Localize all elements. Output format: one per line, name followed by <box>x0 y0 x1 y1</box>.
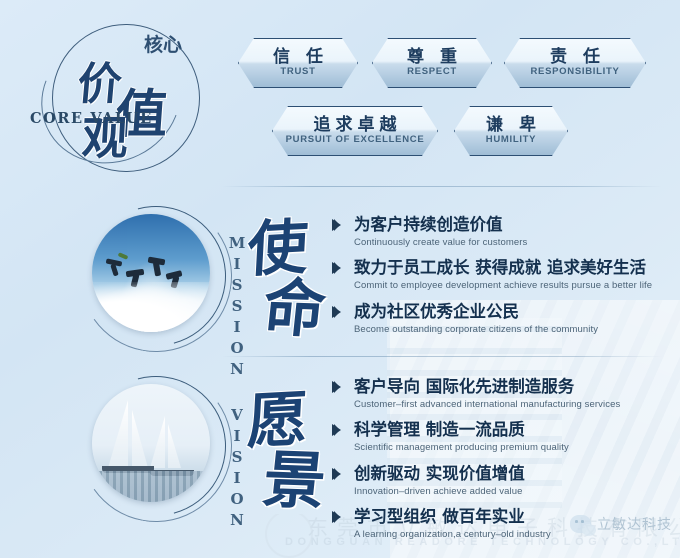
mission-point: 致力于员工成长 获得成就 追求美好生活 Commit to employee d… <box>332 259 678 291</box>
bullet-arrow-icon <box>332 306 341 318</box>
vision-point: 学习型组织 做百年实业 A learning organization,a ce… <box>332 508 678 540</box>
infographic-canvas: 东莞市立敏达电子科技有限公司 DONGGUAN READORE TECHNOLO… <box>0 0 680 558</box>
value-badge-en: RESPECT <box>407 67 457 77</box>
value-badge-respect[interactable]: 尊 重 RESPECT <box>372 38 492 88</box>
value-badge-group: 信 任 TRUST 尊 重 RESPECT 责 任 RESPONSIBILITY… <box>232 36 672 166</box>
mission-point: 为客户持续创造价值 Continuously create value for … <box>332 216 678 248</box>
vision-point: 科学管理 制造一流品质 Scientific management produc… <box>332 421 678 453</box>
vision-point-en: Innovation–driven achieve added value <box>354 486 678 497</box>
mission-vertical-label: MISSION <box>228 234 246 381</box>
vision-photo-sailboats <box>92 384 210 502</box>
bullet-arrow-icon <box>332 468 341 480</box>
vision-point-cn: 创新驱动 实现价值增值 <box>354 465 678 484</box>
value-badge-trust[interactable]: 信 任 TRUST <box>238 38 358 88</box>
vision-title: 愿 景 VISION <box>222 372 332 522</box>
bullet-arrow-icon <box>332 381 341 393</box>
value-badge-en: PURSUIT OF EXCELLENCE <box>286 135 425 145</box>
value-badge-cn: 责 任 <box>545 49 605 66</box>
vision-photo-block <box>78 366 238 526</box>
core-value-big-title: 价 值 观 <box>76 48 206 168</box>
vision-char-bottom: 景 <box>259 429 330 521</box>
vision-point: 客户导向 国际化先进制造服务 Customer–first advanced i… <box>332 378 678 410</box>
mission-point-en: Become outstanding corporate citizens of… <box>354 324 678 335</box>
value-badge-pursuit-of-excellence[interactable]: 追求卓越 PURSUIT OF EXCELLENCE <box>272 106 438 156</box>
bullet-arrow-icon <box>332 424 341 436</box>
mission-point-cn: 为客户持续创造价值 <box>354 216 678 235</box>
bullet-arrow-icon <box>332 262 341 274</box>
bullet-arrow-icon <box>332 511 341 523</box>
vision-point-cn: 学习型组织 做百年实业 <box>354 508 678 527</box>
section-divider-top <box>222 186 662 187</box>
value-badge-cn: 尊 重 <box>402 49 462 66</box>
value-badge-en: HUMILITY <box>486 135 536 145</box>
mission-char-bottom: 命 <box>259 257 330 349</box>
mission-point-cn: 致力于员工成长 获得成就 追求美好生活 <box>354 259 678 278</box>
core-value-emblem: 核心 价 值 观 CORE VALUE <box>28 18 218 178</box>
vision-point-cn: 客户导向 国际化先进制造服务 <box>354 378 678 397</box>
value-badge-cn: 谦 卑 <box>481 117 541 134</box>
vision-vertical-label: VISION <box>228 406 246 532</box>
value-badge-cn: 追求卓越 <box>309 117 402 134</box>
mission-point: 成为社区优秀企业公民 Become outstanding corporate … <box>332 303 678 335</box>
bullet-arrow-icon <box>332 219 341 231</box>
value-badge-cn: 信 任 <box>268 49 328 66</box>
vision-point-en: Customer–first advanced international ma… <box>354 399 678 410</box>
mission-point-en: Continuously create value for customers <box>354 237 678 248</box>
value-badge-en: RESPONSIBILITY <box>531 67 620 77</box>
mission-photo-block <box>78 196 238 356</box>
mission-title: 使 命 MISSION <box>222 200 332 350</box>
vision-point-list: 客户导向 国际化先进制造服务 Customer–first advanced i… <box>332 378 678 551</box>
value-badge-responsibility[interactable]: 责 任 RESPONSIBILITY <box>504 38 646 88</box>
value-badge-en: TRUST <box>280 67 315 77</box>
mission-point-en: Commit to employee development achieve r… <box>354 280 678 291</box>
core-value-english-label: CORE VALUE <box>30 110 153 127</box>
vision-point: 创新驱动 实现价值增值 Innovation–driven achieve ad… <box>332 465 678 497</box>
vision-point-cn: 科学管理 制造一流品质 <box>354 421 678 440</box>
vision-point-en: Scientific management producing premium … <box>354 442 678 453</box>
vision-point-en: A learning organization,a century–old in… <box>354 529 678 540</box>
value-badge-humility[interactable]: 谦 卑 HUMILITY <box>454 106 568 156</box>
mission-point-cn: 成为社区优秀企业公民 <box>354 303 678 322</box>
mission-point-list: 为客户持续创造价值 Continuously create value for … <box>332 216 678 346</box>
section-divider-bottom <box>222 356 662 357</box>
mission-photo-skydiving <box>92 214 210 332</box>
